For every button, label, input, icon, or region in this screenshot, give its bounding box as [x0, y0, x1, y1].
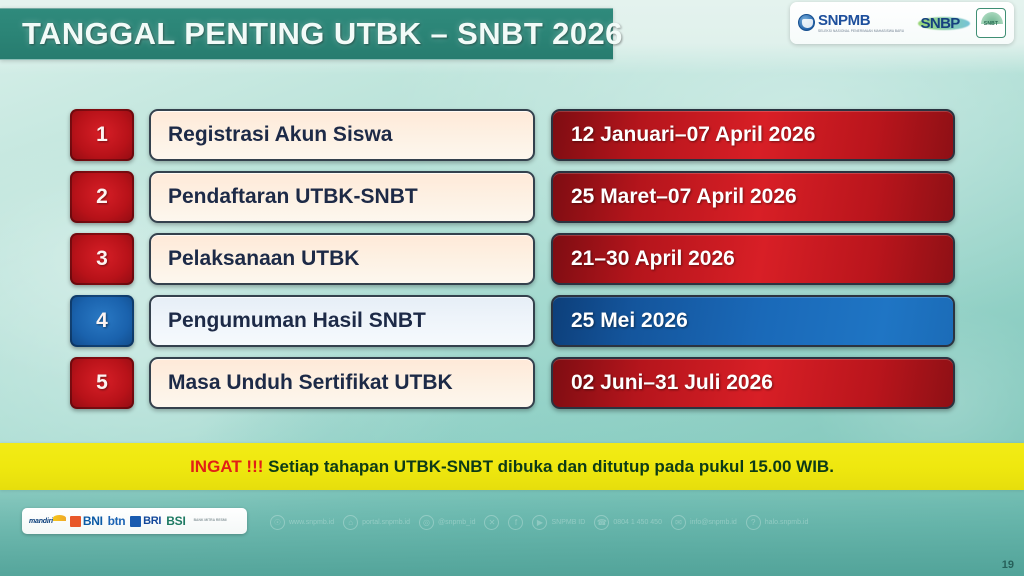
snbt-logo-text: SNBT: [984, 21, 998, 27]
phone-icon: ☎: [594, 515, 609, 530]
row-number-badge: 5: [70, 357, 134, 409]
bni-mark-icon: [70, 516, 81, 527]
contact-item[interactable]: ✕: [484, 515, 499, 530]
table-row: 3 Pelaksanaan UTBK 21–30 April 2026: [70, 233, 955, 285]
mandiri-logo: mandiri: [29, 518, 53, 525]
notice-warning-label: INGAT !!!: [190, 457, 263, 476]
contact-strip: ☉ www.snpmb.id ⌂ portal.snpmb.id ◎ @snpm…: [270, 512, 984, 532]
youtube-icon: ▶: [532, 515, 547, 530]
contact-text: halo.snpmb.id: [765, 519, 809, 526]
row-activity-label: Registrasi Akun Siswa: [149, 109, 535, 161]
contact-item[interactable]: ☎ 0804 1 450 450: [594, 515, 662, 530]
notice-text: INGAT !!! Setiap tahapan UTBK-SNBT dibuk…: [190, 457, 834, 477]
snpmb-seal-icon: [798, 14, 815, 31]
footer-bar: mandiri BNI btn BRI BSI BANK MITRA RESMI…: [0, 490, 1024, 576]
row-date-chip: 25 Maret–07 April 2026: [551, 171, 955, 223]
row-date-chip: 21–30 April 2026: [551, 233, 955, 285]
contact-text: portal.snpmb.id: [362, 519, 410, 526]
bni-logo: BNI: [70, 514, 103, 528]
btn-logo: btn: [108, 514, 125, 528]
contact-text: www.snpmb.id: [289, 519, 334, 526]
bri-mark-icon: [130, 516, 141, 527]
x-icon: ✕: [484, 515, 499, 530]
row-activity-label: Pelaksanaan UTBK: [149, 233, 535, 285]
page-number: 19: [1002, 559, 1014, 571]
snbt-logo: SNBT: [976, 8, 1006, 38]
instagram-icon: ◎: [419, 515, 434, 530]
row-date-chip: 02 Juni–31 Juli 2026: [551, 357, 955, 409]
bank-tagline: BANK MITRA RESMI: [194, 519, 227, 523]
contact-item[interactable]: ⌂ portal.snpmb.id: [343, 515, 410, 530]
facebook-icon: f: [508, 515, 523, 530]
slide-canvas: TANGGAL PENTING UTBK – SNBT 2026 SNPMB S…: [0, 0, 1024, 576]
row-date-chip: 25 Mei 2026: [551, 295, 955, 347]
table-row: 5 Masa Unduh Sertifikat UTBK 02 Juni–31 …: [70, 357, 955, 409]
mail-icon: ✉: [671, 515, 686, 530]
table-row: 4 Pengumuman Hasil SNBT 25 Mei 2026: [70, 295, 955, 347]
row-date-chip: 12 Januari–07 April 2026: [551, 109, 955, 161]
contact-text: @snpmb_id: [438, 519, 475, 526]
row-number-badge: 3: [70, 233, 134, 285]
contact-item[interactable]: f: [508, 515, 523, 530]
table-row: 1 Registrasi Akun Siswa 12 Januari–07 Ap…: [70, 109, 955, 161]
logo-panel: SNPMB SELEKSI NASIONAL PENERIMAAN MAHASI…: [790, 2, 1014, 44]
snpmb-logo-text: SNPMB: [818, 13, 904, 28]
title-banner: TANGGAL PENTING UTBK – SNBT 2026: [0, 8, 613, 60]
contact-text: SNPMB ID: [551, 519, 585, 526]
contact-text: 0804 1 450 450: [613, 519, 662, 526]
row-number-badge: 4: [70, 295, 134, 347]
snpmb-logo-subtitle: SELEKSI NASIONAL PENERIMAAN MAHASISWA BA…: [818, 30, 904, 33]
snbp-logo-text: SNBP: [920, 16, 959, 31]
row-number-badge: 1: [70, 109, 134, 161]
row-number-badge: 2: [70, 171, 134, 223]
snpmb-logo: SNPMB SELEKSI NASIONAL PENERIMAAN MAHASI…: [798, 13, 904, 33]
snbp-logo: SNBP: [920, 16, 959, 31]
contact-item[interactable]: ☉ www.snpmb.id: [270, 515, 334, 530]
bri-logo: BRI: [130, 515, 161, 527]
bsi-logo: BSI: [166, 514, 185, 528]
portal-icon: ⌂: [343, 515, 358, 530]
table-row: 2 Pendaftaran UTBK-SNBT 25 Maret–07 Apri…: [70, 171, 955, 223]
contact-text: info@snpmb.id: [690, 519, 737, 526]
contact-item[interactable]: ▶ SNPMB ID: [532, 515, 585, 530]
contact-item[interactable]: ◎ @snpmb_id: [419, 515, 475, 530]
snpmb-wordmark: SNPMB SELEKSI NASIONAL PENERIMAAN MAHASI…: [818, 13, 904, 33]
row-activity-label: Masa Unduh Sertifikat UTBK: [149, 357, 535, 409]
globe-icon: ☉: [270, 515, 285, 530]
contact-item[interactable]: ? halo.snpmb.id: [746, 515, 809, 530]
row-activity-label: Pendaftaran UTBK-SNBT: [149, 171, 535, 223]
help-icon: ?: [746, 515, 761, 530]
bni-logo-text: BNI: [83, 514, 103, 528]
notice-message: Setiap tahapan UTBK-SNBT dibuka dan ditu…: [268, 457, 834, 476]
bank-partners-strip: mandiri BNI btn BRI BSI BANK MITRA RESMI: [22, 508, 247, 534]
notice-banner: INGAT !!! Setiap tahapan UTBK-SNBT dibuk…: [0, 443, 1024, 490]
contact-item[interactable]: ✉ info@snpmb.id: [671, 515, 737, 530]
page-title: TANGGAL PENTING UTBK – SNBT 2026: [22, 16, 623, 52]
bri-logo-text: BRI: [143, 515, 161, 527]
row-activity-label: Pengumuman Hasil SNBT: [149, 295, 535, 347]
schedule-table: 1 Registrasi Akun Siswa 12 Januari–07 Ap…: [70, 109, 955, 409]
